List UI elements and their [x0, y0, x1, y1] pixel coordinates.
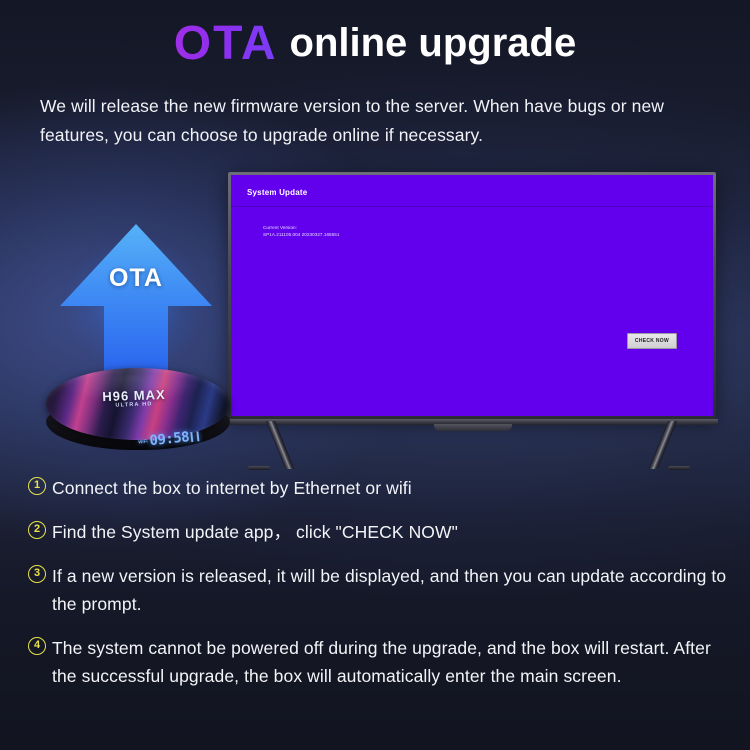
- list-item: 2 Find the System update app， click "CHE…: [28, 518, 728, 546]
- page-title: OTAonline upgrade: [0, 16, 750, 71]
- list-item: 3 If a new version is released, it will …: [28, 562, 728, 618]
- tv-screen: System Update Current Version: SP1A.2111…: [231, 175, 713, 416]
- page-title-accent: OTA: [174, 17, 278, 70]
- current-version-value: SP1A.211105.004 20230327.165551: [263, 231, 339, 238]
- step-text: Find the System update app， click "CHECK…: [52, 518, 458, 546]
- tv-box-body: H96 MAX ULTRA HD WiFi 09:58 ▎▎: [40, 362, 226, 450]
- tv-box-device: H96 MAX ULTRA HD WiFi 09:58 ▎▎: [32, 358, 232, 463]
- led-signal-bars-icon: ▎▎: [191, 431, 204, 441]
- step-text: Connect the box to internet by Ethernet …: [52, 474, 412, 502]
- screen-divider: [231, 206, 713, 207]
- instruction-steps-list: 1 Connect the box to internet by Etherne…: [28, 474, 728, 706]
- tv-foot-right: [668, 466, 690, 470]
- current-version-block: Current Version: SP1A.211105.004 2023032…: [263, 224, 339, 238]
- system-update-app-title: System Update: [247, 188, 307, 197]
- step-number-badge: 3: [28, 565, 46, 583]
- list-item: 1 Connect the box to internet by Etherne…: [28, 474, 728, 502]
- led-clock-value: 09:58: [149, 429, 190, 449]
- intro-paragraph: We will release the new firmware version…: [40, 92, 720, 150]
- step-number-badge: 2: [28, 521, 46, 539]
- current-version-label: Current Version:: [263, 224, 339, 231]
- tv-center-nub: [434, 424, 512, 431]
- page-title-rest: online upgrade: [290, 21, 577, 65]
- page-root: OTAonline upgrade We will release the ne…: [0, 0, 750, 750]
- tv-bezel: System Update Current Version: SP1A.2111…: [228, 172, 716, 420]
- step-text: If a new version is released, it will be…: [52, 562, 728, 618]
- tv-leg-right: [649, 421, 677, 469]
- tv-illustration: System Update Current Version: SP1A.2111…: [228, 172, 716, 460]
- step-text: The system cannot be powered off during …: [52, 634, 728, 690]
- list-item: 4 The system cannot be powered off durin…: [28, 634, 728, 690]
- arrow-label: OTA: [56, 264, 216, 293]
- tv-leg-left: [266, 421, 294, 469]
- check-now-button[interactable]: CHECK NOW: [627, 333, 677, 349]
- wifi-icon: WiFi: [138, 439, 148, 446]
- step-number-badge: 4: [28, 637, 46, 655]
- step-number-badge: 1: [28, 477, 46, 495]
- tv-foot-left: [248, 466, 270, 470]
